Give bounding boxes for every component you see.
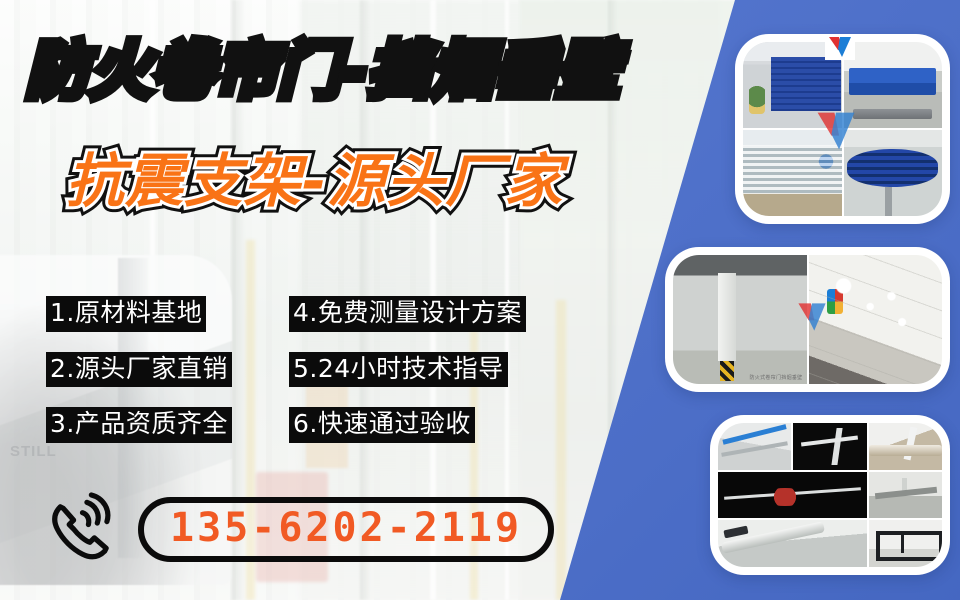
feature-column-right: 6.快速通过验收 bbox=[289, 407, 556, 443]
photo-fan-seismic-support bbox=[718, 472, 867, 519]
photo-steel-rolling-shutter bbox=[743, 130, 842, 216]
headline-primary-outline: 防火卷帘门-挡烟垂壁 bbox=[26, 40, 620, 102]
collage-grid: 防火式卷帘门挡烟垂壁 bbox=[673, 255, 942, 384]
photo-shutter-curtain-drum bbox=[844, 130, 943, 216]
photo-cable-tray-clamp bbox=[869, 423, 942, 470]
feature-row: 3.产品资质齐全 6.快速通过验收 bbox=[46, 407, 556, 443]
feature-column-right: 4.免费测量设计方案 bbox=[289, 296, 556, 332]
phone-call-icon bbox=[44, 492, 118, 566]
feature-column-left: 3.产品资质齐全 bbox=[46, 407, 289, 443]
phone-number-box[interactable]: 135-6202-2119 bbox=[138, 497, 554, 562]
feature-row: 2.源头厂家直销 5.24小时技术指导 bbox=[46, 352, 556, 388]
feature-column-left: 2.源头厂家直销 bbox=[46, 352, 289, 388]
collage-grid bbox=[743, 42, 942, 216]
photo-dual-pipe-hanger bbox=[793, 423, 866, 470]
poster-canvas: STILL 防火卷帘门-挡烟垂壁 防火卷帘门-挡烟垂壁 抗震支架-源头厂家 抗震… bbox=[0, 0, 960, 600]
project-site-collage: 防火式卷帘门挡烟垂壁 bbox=[665, 247, 950, 392]
feature-list: 1.原材料基地 4.免费测量设计方案 2.源头厂家直销 5.24小时技术指导 3… bbox=[46, 296, 556, 463]
feature-item: 1.原材料基地 bbox=[46, 296, 206, 332]
photo-ceiling-fan-bracing bbox=[869, 472, 942, 519]
feature-item: 5.24小时技术指导 bbox=[289, 352, 508, 388]
photo-pipe-seismic-bracing bbox=[718, 423, 791, 470]
photo-steel-frame-support bbox=[869, 520, 942, 567]
feature-item: 3.产品资质齐全 bbox=[46, 407, 232, 443]
feature-item: 2.源头厂家直销 bbox=[46, 352, 232, 388]
photo-blue-fire-shutter-door bbox=[743, 42, 842, 128]
feature-row: 1.原材料基地 4.免费测量设计方案 bbox=[46, 296, 556, 332]
collage-grid bbox=[718, 423, 942, 567]
feature-column-left: 1.原材料基地 bbox=[46, 296, 289, 332]
feature-column-right: 5.24小时技术指导 bbox=[289, 352, 556, 388]
photo-duct-seismic-bracing bbox=[718, 520, 867, 567]
photo-roll-forming-machine bbox=[844, 42, 943, 128]
photo-caption: 防火式卷帘门挡烟垂壁 bbox=[749, 374, 802, 381]
fire-shutter-door-collage bbox=[735, 34, 950, 224]
phone-number: 135-6202-2119 bbox=[170, 506, 522, 550]
seismic-bracket-collage bbox=[710, 415, 950, 575]
headline-secondary: 抗震支架-源头厂家 bbox=[66, 152, 563, 210]
contact-row: 135-6202-2119 bbox=[44, 492, 554, 566]
photo-suspended-ceiling bbox=[809, 255, 943, 384]
photo-parking-garage: 防火式卷帘门挡烟垂壁 bbox=[673, 255, 807, 384]
feature-item: 6.快速通过验收 bbox=[289, 407, 475, 443]
feature-item: 4.免费测量设计方案 bbox=[289, 296, 526, 332]
